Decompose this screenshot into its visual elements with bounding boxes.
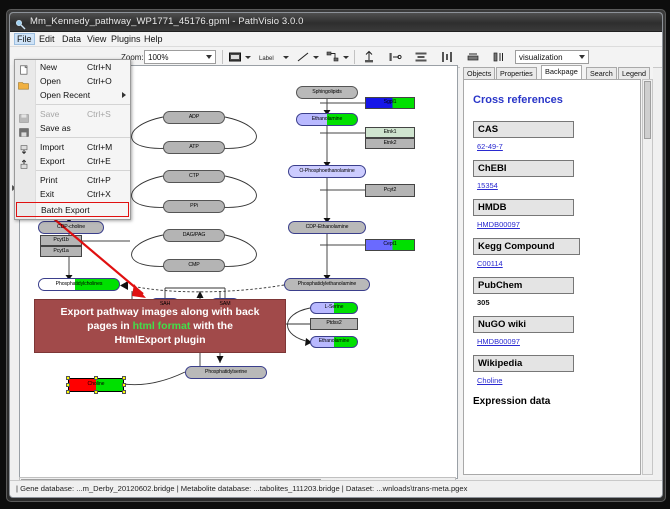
node-label: PPi xyxy=(190,204,198,209)
menu-shortcut: Ctrl+N xyxy=(87,62,111,72)
align-top-icon[interactable] xyxy=(362,50,376,64)
menu-item-open-recent[interactable]: Open Recent xyxy=(15,88,130,102)
menu-item-export[interactable]: Export Ctrl+E xyxy=(15,154,130,168)
file-menu-dropdown[interactable]: New Ctrl+N Open Ctrl+O Open Recent Save xyxy=(14,59,131,220)
node-label: Pcyt2 xyxy=(384,188,396,193)
screenshot-root: Mm_Kennedy_pathway_WP1771_45176.gpml - P… xyxy=(0,0,670,509)
menu-item-batch-export[interactable]: Batch Export xyxy=(16,202,129,217)
distribute-vertical-icon[interactable] xyxy=(414,50,428,64)
menu-item-open[interactable]: Open Ctrl+O xyxy=(15,74,130,88)
node-label: SAH xyxy=(160,302,170,307)
label-tool-icon[interactable]: Label xyxy=(258,50,280,64)
menu-label: Open Recent xyxy=(40,90,90,100)
node-label: Sphingolipids xyxy=(312,90,342,95)
node-label: Choline xyxy=(88,382,105,387)
selection-handle[interactable] xyxy=(122,390,126,394)
datanode-dropdown-icon[interactable] xyxy=(245,56,251,59)
toolbar-separator-2 xyxy=(354,50,355,64)
menu-label: Save xyxy=(40,109,59,119)
node-adp[interactable]: ADP xyxy=(163,111,225,124)
node-cdp-choline[interactable]: CDP-choline xyxy=(38,221,104,234)
gene-etnk2[interactable]: Etnk2 xyxy=(365,138,415,149)
xref-link-nugo[interactable]: HMDB00097 xyxy=(477,337,520,346)
annotation-line1: Export pathway images along with back xyxy=(61,306,260,318)
menu-item-save-as[interactable]: Save as xyxy=(15,121,130,135)
pathvisio-window: Mm_Kennedy_pathway_WP1771_45176.gpml - P… xyxy=(9,12,663,498)
xref-link-chebi[interactable]: 15354 xyxy=(477,181,498,190)
node-dag-pag[interactable]: DAG/PAG xyxy=(163,229,225,242)
xref-label-wikipedia: Wikipedia xyxy=(473,355,574,372)
node-label: SAM xyxy=(220,302,231,307)
chevron-right-icon xyxy=(122,92,126,98)
selection-handle[interactable] xyxy=(94,390,98,394)
gene-sgpl1[interactable]: Sgpl1 xyxy=(365,97,415,109)
menu-label: New xyxy=(40,62,57,72)
node-label: Etnk1 xyxy=(384,130,397,135)
annotation-line2-b: with the xyxy=(190,320,233,332)
menu-help[interactable]: Help xyxy=(141,33,166,45)
same-height-icon[interactable] xyxy=(492,50,506,64)
node-label: CDP-Ethanolamine xyxy=(306,225,349,230)
xref-label-chebi: ChEBI xyxy=(473,160,574,177)
gene-etnk1[interactable]: Etnk1 xyxy=(365,127,415,138)
node-o-phosphoethanolamine[interactable]: O-Phosphoethanolamine xyxy=(288,165,366,178)
menu-label: Exit xyxy=(40,189,54,199)
node-label: Pcyt1a xyxy=(53,249,68,254)
visualization-value: visualization xyxy=(519,53,563,62)
menu-item-save: Save Ctrl+S xyxy=(15,107,130,121)
menu-shortcut: Ctrl+O xyxy=(87,76,112,86)
expression-data-heading: Expression data xyxy=(473,396,550,407)
backpage-content: Cross references CAS 62-49-7 ChEBI 15354… xyxy=(463,79,641,475)
status-bar: | Gene database: ...m_Derby_20120602.bri… xyxy=(10,480,662,497)
title-bar: Mm_Kennedy_pathway_WP1771_45176.gpml - P… xyxy=(10,13,662,32)
interaction-dropdown-icon[interactable] xyxy=(343,56,349,59)
menu-item-print[interactable]: Print Ctrl+P xyxy=(15,173,130,187)
node-label: Cept1 xyxy=(383,242,396,247)
annotation-line3: HtmlExport plugin xyxy=(115,334,206,346)
window-title: Mm_Kennedy_pathway_WP1771_45176.gpml - P… xyxy=(30,16,304,27)
annotation-text: Export pathway images along with back pa… xyxy=(61,305,260,348)
xref-link-hmdb[interactable]: HMDB00097 xyxy=(477,220,520,229)
node-label: Phosphatidylcholines xyxy=(56,282,103,287)
node-label: Pcyt1b xyxy=(53,238,68,243)
export-icon xyxy=(19,156,29,174)
node-label: Ethanolamine xyxy=(319,339,350,344)
zoom-combo[interactable]: 100% xyxy=(144,50,216,64)
node-label: CDP-choline xyxy=(57,225,85,230)
tab-objects[interactable]: Objects xyxy=(463,67,495,79)
toolbar-separator-1 xyxy=(222,50,223,64)
side-panel-scrollbar[interactable] xyxy=(642,79,653,475)
gene-cept1[interactable]: Cept1 xyxy=(365,239,415,251)
menu-bar: File Edit Data View Plugins Help xyxy=(10,32,662,47)
node-label: ADP xyxy=(189,115,199,120)
interaction-tool-icon[interactable] xyxy=(326,50,340,64)
side-scroll-thumb[interactable] xyxy=(644,81,651,139)
same-width-icon[interactable] xyxy=(466,50,480,64)
selection-handle[interactable] xyxy=(122,383,126,387)
gene-pcyt1b[interactable]: Pcyt1b xyxy=(40,235,82,246)
align-left-icon[interactable] xyxy=(388,50,402,64)
selection-handle[interactable] xyxy=(66,376,70,380)
side-panel: Objects Properties Backpage Search Legen… xyxy=(460,65,653,477)
xref-link-kegg[interactable]: C00114 xyxy=(477,259,503,268)
menu-label: Import xyxy=(40,142,64,152)
menu-label: Print xyxy=(40,175,57,185)
tab-search[interactable]: Search xyxy=(586,67,617,79)
node-label: Ptdss2 xyxy=(326,321,341,326)
node-label: Ethanolamine xyxy=(312,117,343,122)
xref-value-pubchem: 305 xyxy=(477,298,490,307)
xref-label-hmdb: HMDB xyxy=(473,199,574,216)
menu-label: Batch Export xyxy=(41,205,90,215)
menu-label: Open xyxy=(40,76,61,86)
pathvisio-icon xyxy=(15,17,26,28)
node-cmp[interactable]: CMP xyxy=(163,259,225,272)
selection-handle[interactable] xyxy=(66,390,70,394)
menu-shortcut: Ctrl+X xyxy=(87,189,111,199)
node-ethanolamine-2[interactable]: Ethanolamine xyxy=(310,336,358,348)
node-label: O-Phosphoethanolamine xyxy=(299,169,354,174)
menu-data[interactable]: Data xyxy=(59,33,84,45)
menu-label: Export xyxy=(40,156,65,166)
node-label: Etnk2 xyxy=(384,141,397,146)
menu-shortcut: Ctrl+M xyxy=(87,142,112,152)
xref-link-wikipedia[interactable]: Choline xyxy=(477,376,502,385)
node-label: Phosphatidylserine xyxy=(205,370,247,375)
annotation-highlight: html format xyxy=(133,320,191,332)
tab-backpage[interactable]: Backpage xyxy=(541,65,582,79)
gene-pcyt2[interactable]: Pcyt2 xyxy=(365,184,415,197)
node-sphingolipids[interactable]: Sphingolipids xyxy=(296,86,358,99)
node-phosphatidylethanolamine[interactable]: Phosphatidylethanolamine xyxy=(284,278,370,291)
visualization-combo[interactable]: visualization xyxy=(515,50,589,64)
chevron-down-icon xyxy=(579,55,585,59)
annotation-callout: Export pathway images along with back pa… xyxy=(34,299,286,353)
datanode-tool-icon[interactable] xyxy=(228,50,242,64)
menu-item-exit[interactable]: Exit Ctrl+X xyxy=(15,187,130,201)
chevron-down-icon xyxy=(206,55,212,59)
menu-item-import[interactable]: Import Ctrl+M xyxy=(15,140,130,154)
node-ethanolamine[interactable]: Ethanolamine xyxy=(296,113,358,126)
node-label: Phosphatidylethanolamine xyxy=(298,282,356,287)
node-atp[interactable]: ATP xyxy=(163,141,225,154)
xref-label-cas: CAS xyxy=(473,121,574,138)
xref-label-kegg: Kegg Compound xyxy=(473,238,580,255)
node-label: DAG/PAG xyxy=(183,233,206,238)
zoom-value: 100% xyxy=(148,53,168,62)
xref-label-pubchem: PubChem xyxy=(473,277,574,294)
node-label: CMP xyxy=(188,263,199,268)
node-cdp-ethanolamine[interactable]: CDP-Ethanolamine xyxy=(288,221,366,234)
selection-handle[interactable] xyxy=(66,383,70,387)
menu-edit[interactable]: Edit xyxy=(36,33,58,45)
node-l-serine[interactable]: L-Serine xyxy=(310,302,358,314)
node-ppi[interactable]: PPi xyxy=(163,200,225,213)
status-text: | Gene database: ...m_Derby_20120602.bri… xyxy=(16,484,467,493)
gene-pcyt1a[interactable]: Pcyt1a xyxy=(40,246,82,257)
xref-link-cas[interactable]: 62-49-7 xyxy=(477,142,503,151)
menu-view[interactable]: View xyxy=(84,33,109,45)
line-tool-icon[interactable] xyxy=(296,50,310,64)
menu-plugins[interactable]: Plugins xyxy=(108,33,144,45)
menu-label: Save as xyxy=(40,123,71,133)
svg-text:Label: Label xyxy=(259,56,274,62)
xref-label-nugo: NuGO wiki xyxy=(473,316,574,333)
menu-shortcut: Ctrl+S xyxy=(87,109,111,119)
line-dropdown-icon[interactable] xyxy=(313,56,319,59)
selection-handle[interactable] xyxy=(122,376,126,380)
selection-handle[interactable] xyxy=(94,376,98,380)
node-label: ATP xyxy=(189,145,198,150)
node-label: L-Serine xyxy=(325,305,344,310)
tab-properties[interactable]: Properties xyxy=(496,67,537,79)
menu-shortcut: Ctrl+E xyxy=(87,156,111,166)
gene-ptdss2[interactable]: Ptdss2 xyxy=(310,318,358,330)
tab-legend[interactable]: Legend xyxy=(618,67,650,79)
node-phosphatidylcholines[interactable]: Phosphatidylcholines xyxy=(38,278,120,291)
annotation-line2-a: pages in xyxy=(87,320,133,332)
menu-shortcut: Ctrl+P xyxy=(87,175,111,185)
cross-references-heading: Cross references xyxy=(473,94,563,106)
label-dropdown-icon[interactable] xyxy=(283,56,289,59)
menu-item-new[interactable]: New Ctrl+N xyxy=(15,60,130,74)
distribute-horizontal-icon[interactable] xyxy=(440,50,454,64)
node-label: CTP xyxy=(189,174,199,179)
node-label: Sgpl1 xyxy=(384,100,397,105)
menu-file[interactable]: File xyxy=(14,33,35,45)
node-phosphatidylserine[interactable]: Phosphatidylserine xyxy=(185,366,267,379)
node-ctp[interactable]: CTP xyxy=(163,170,225,183)
